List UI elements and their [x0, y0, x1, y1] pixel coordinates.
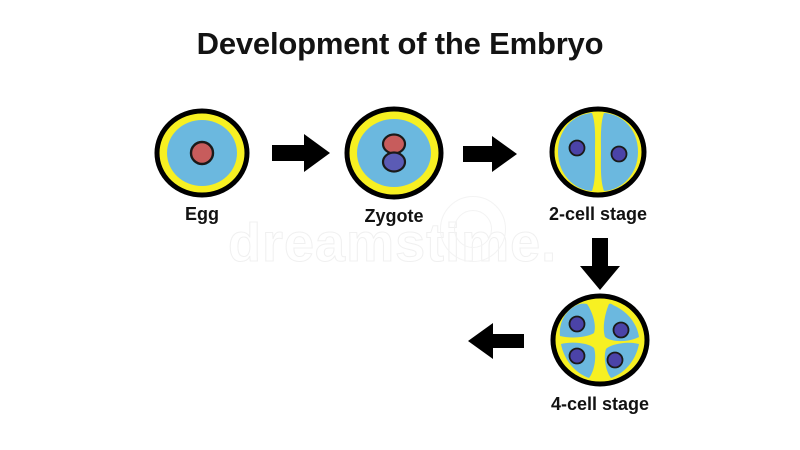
arrow-egg-to-zygote	[270, 132, 332, 179]
page-title: Development of the Embryo	[0, 26, 800, 62]
blastomere-bottom-left-nucleus	[570, 349, 585, 364]
stage-egg: Egg	[152, 106, 252, 225]
stage-four-cell-label: 4-cell stage	[542, 394, 658, 415]
two-cell-icon	[548, 104, 648, 200]
arrow-down-icon	[578, 236, 622, 292]
blastomere-top-right-nucleus	[614, 323, 629, 338]
diagram-canvas: Development of the Embryo dreamstime. Eg…	[0, 0, 800, 450]
arrow-two-cell-to-four-cell	[578, 236, 622, 297]
zygote-pronucleus-maternal	[383, 135, 405, 154]
blastomere-top-left-nucleus	[570, 317, 585, 332]
four-cell-icon	[549, 292, 651, 390]
stage-zygote-label: Zygote	[342, 206, 446, 227]
arrow-left-icon	[466, 320, 526, 362]
blastomere-right-nucleus	[612, 147, 627, 162]
stage-two-cell: 2-cell stage	[540, 104, 656, 225]
arrow-right-icon	[270, 132, 332, 174]
arrow-zygote-to-two-cell	[461, 134, 519, 179]
arrow-four-cell-continue	[466, 320, 526, 367]
stage-zygote: Zygote	[342, 104, 446, 227]
arrow-right-icon	[461, 134, 519, 174]
blastomere-bottom-right-nucleus	[608, 353, 623, 368]
watermark-ring-icon	[440, 196, 506, 262]
stage-two-cell-label: 2-cell stage	[540, 204, 656, 225]
blastomere-left-nucleus	[570, 141, 585, 156]
stage-four-cell: 4-cell stage	[542, 292, 658, 415]
four-cell-membrane	[553, 296, 647, 384]
egg-nucleus	[191, 142, 213, 164]
stage-egg-label: Egg	[152, 204, 252, 225]
zygote-cell-icon	[343, 104, 445, 202]
zygote-pronucleus-paternal	[383, 153, 405, 172]
egg-cell-icon	[153, 106, 251, 200]
